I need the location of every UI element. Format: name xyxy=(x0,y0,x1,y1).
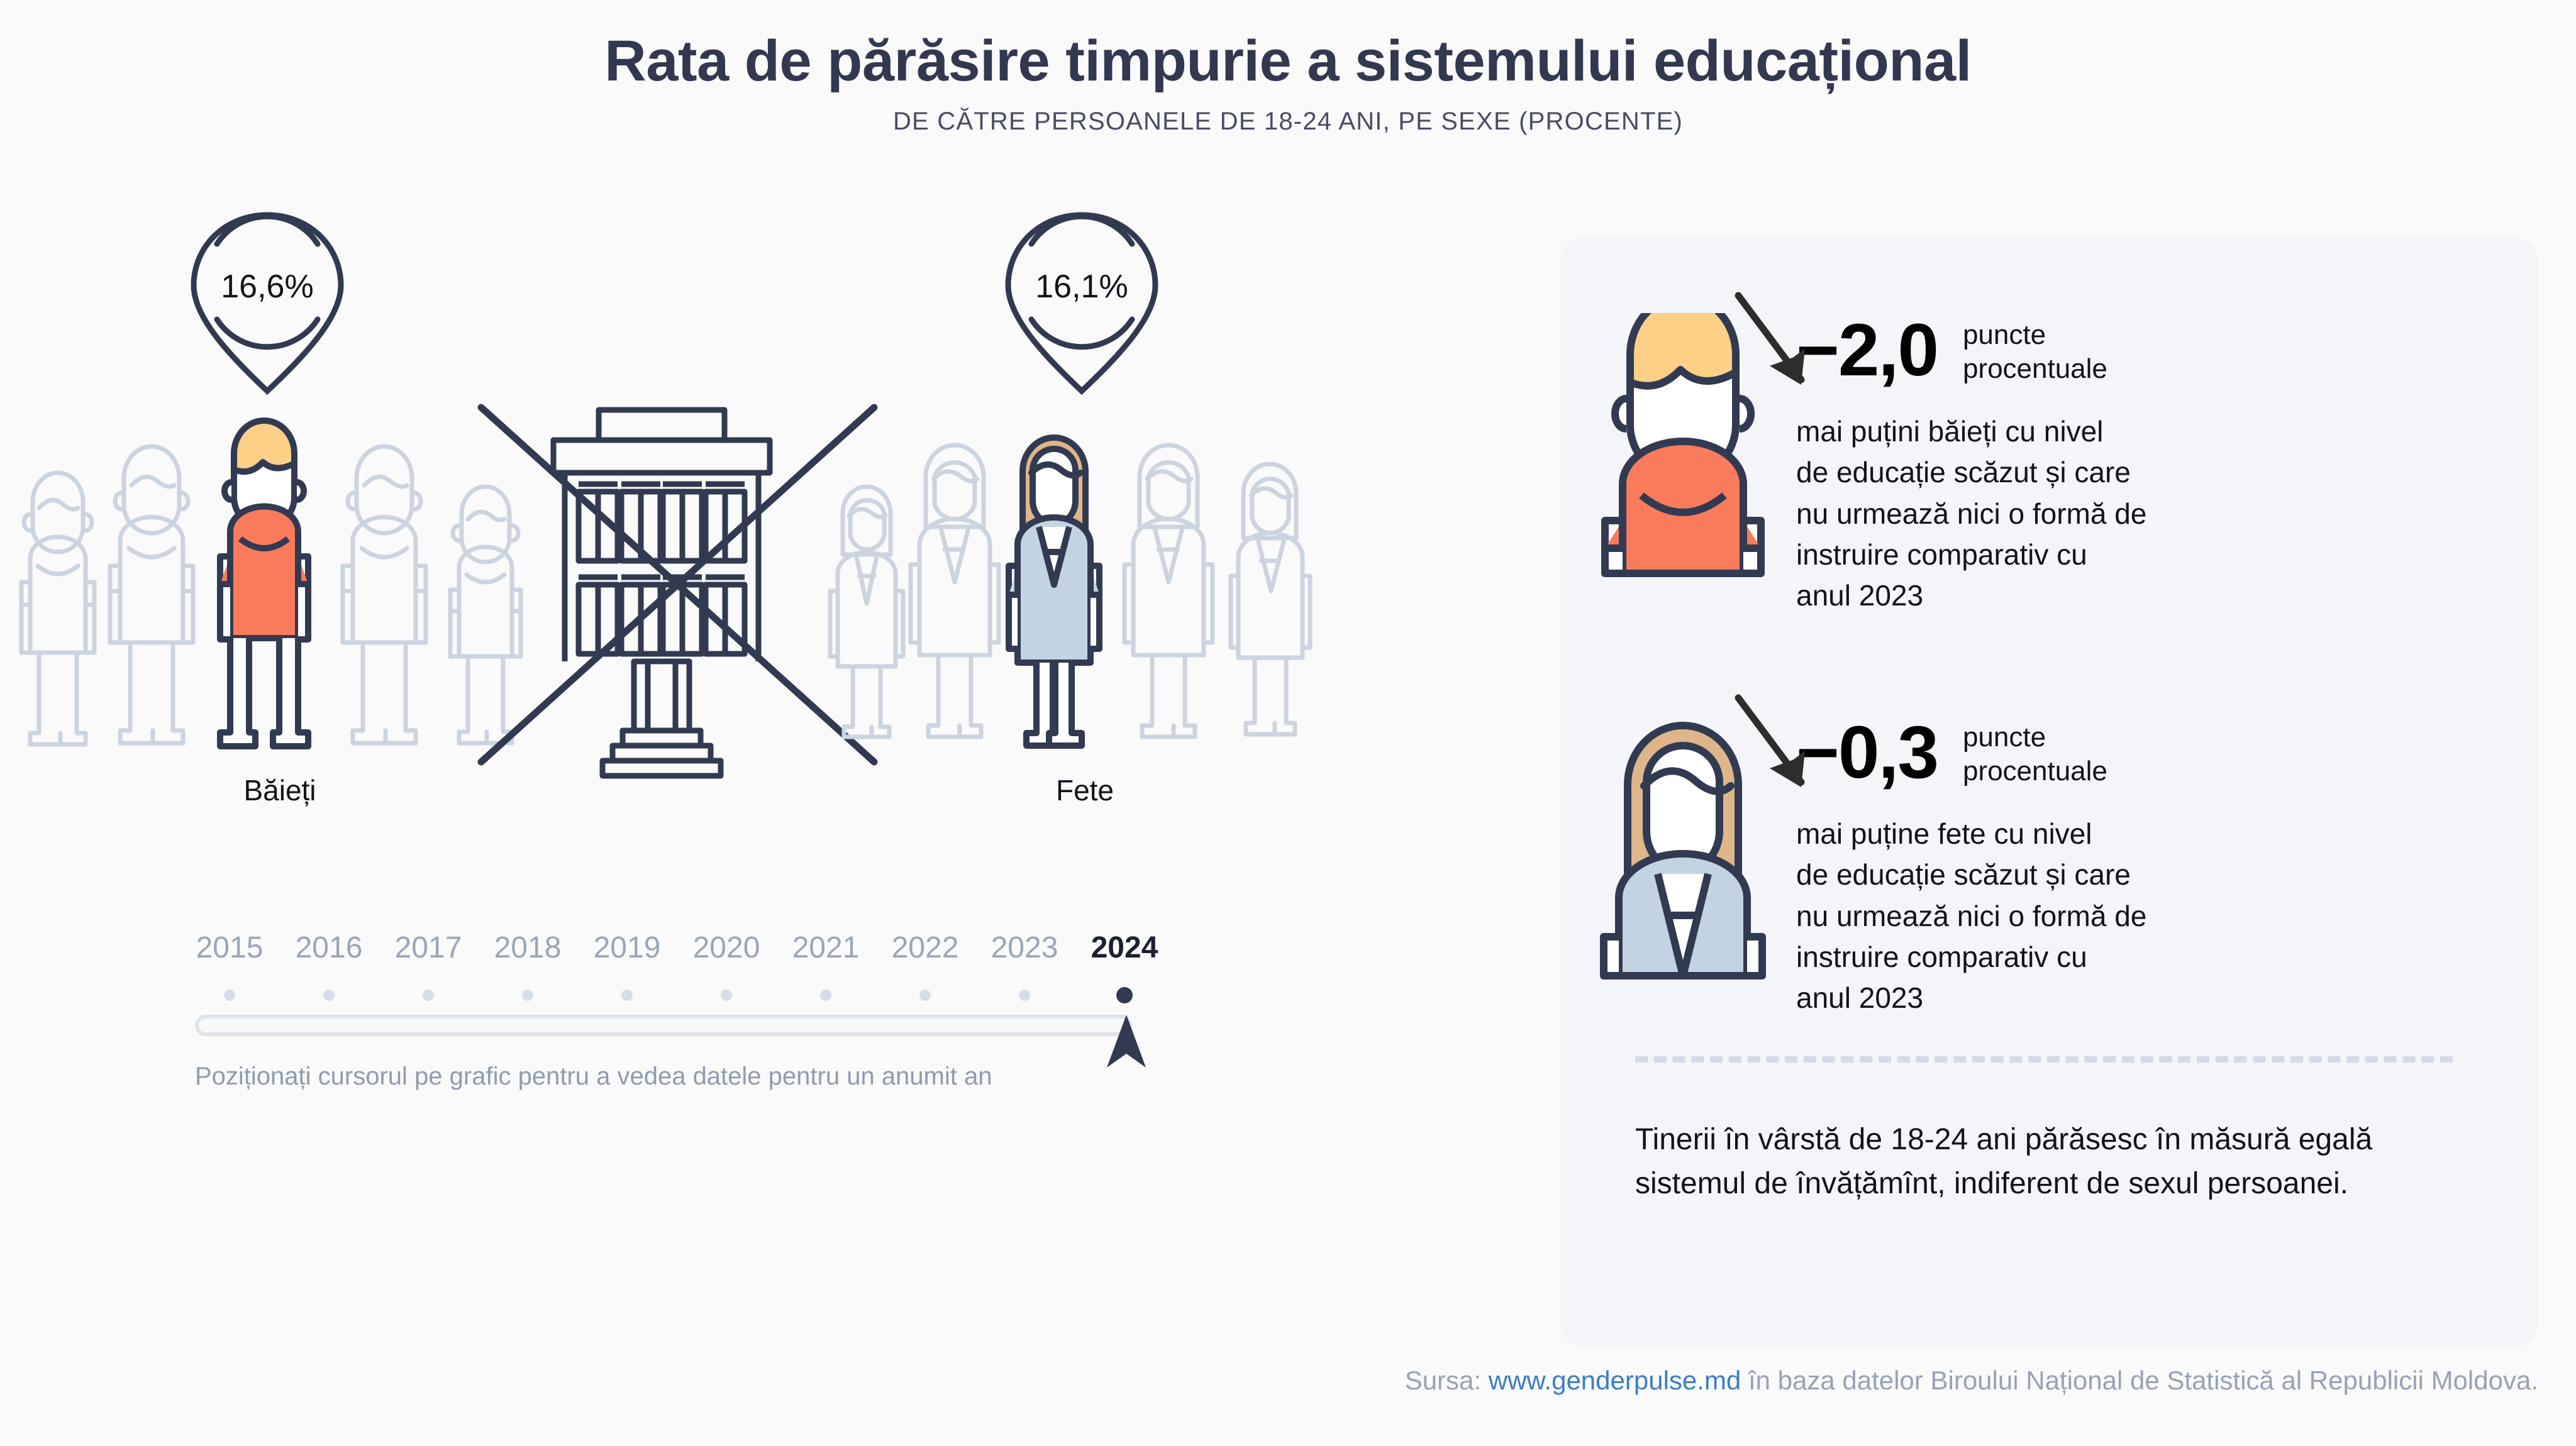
stat-description-boys: mai puțini băieți cu nivel de educație s… xyxy=(1796,411,2146,617)
pin-value-boys: 16,6% xyxy=(182,268,352,306)
year-slider[interactable]: 2015 2016 2017 2018 2019 2020 2021 2022 … xyxy=(195,930,1176,1091)
year-label-2023[interactable]: 2023 xyxy=(991,930,1058,965)
year-ticks xyxy=(195,983,1151,1008)
boy-figure-faded xyxy=(343,446,426,743)
panel-divider xyxy=(1635,1056,2453,1062)
stat-unit-girls: puncte procentuale xyxy=(1963,720,2107,788)
boy-figure-faded xyxy=(21,473,94,744)
year-label-2024[interactable]: 2024 xyxy=(1091,930,1158,965)
year-tick-2024[interactable] xyxy=(1116,987,1133,1003)
stat-unit-line1: puncte xyxy=(1963,318,2107,352)
source-suffix: în baza datelor Biroului Național de Sta… xyxy=(1741,1366,2538,1395)
year-tick-2020[interactable] xyxy=(721,990,732,1001)
source-link[interactable]: www.genderpulse.md xyxy=(1489,1366,1741,1395)
stat-body-boys: −2,0 puncte procentuale mai puțini băieț… xyxy=(1784,313,2146,617)
year-tick-2015[interactable] xyxy=(224,990,235,1001)
stat-unit-line2: procentuale xyxy=(1963,754,2107,788)
summary-panel: −2,0 puncte procentuale mai puțini băieț… xyxy=(1560,238,2538,1348)
year-label-2016[interactable]: 2016 xyxy=(296,930,363,965)
year-tick-2016[interactable] xyxy=(323,990,335,1001)
pin-value-girls: 16,1% xyxy=(997,268,1167,306)
slider-track[interactable] xyxy=(195,1015,1132,1036)
down-right-arrow-icon xyxy=(1727,688,1840,814)
pin-marker-girls: 16,1% xyxy=(997,207,1167,396)
cursor-pointer-icon[interactable] xyxy=(1104,1012,1148,1073)
source-prefix: Sursa: xyxy=(1405,1366,1489,1395)
girl-figure-faded xyxy=(911,445,999,737)
girl-figure-highlighted xyxy=(1009,438,1099,746)
year-tick-2022[interactable] xyxy=(919,990,931,1001)
slider-track-inner xyxy=(199,1018,1128,1032)
source-footer: Sursa: www.genderpulse.md în baza datelo… xyxy=(0,1366,2538,1396)
year-tick-2023[interactable] xyxy=(1019,990,1030,1001)
girl-figure-faded xyxy=(1124,445,1213,737)
girl-figure-faded xyxy=(830,487,903,737)
infographic-page: Rata de părăsire timpurie a sistemului e… xyxy=(0,0,2576,1446)
year-label-2021[interactable]: 2021 xyxy=(792,930,860,965)
year-label-2020[interactable]: 2020 xyxy=(693,930,760,965)
page-subtitle: DE CĂTRE PERSOANELE DE 18-24 ANI, PE SEX… xyxy=(0,108,2576,136)
boy-figure-faded xyxy=(450,487,521,743)
stat-body-girls: −0,3 puncte procentuale mai puține fete … xyxy=(1784,715,2146,1019)
year-tick-2017[interactable] xyxy=(423,990,434,1001)
group-label-boys: Băieți xyxy=(154,773,406,807)
year-label-2022[interactable]: 2022 xyxy=(892,930,959,965)
year-labels: 2015 2016 2017 2018 2019 2020 2021 2022 … xyxy=(195,930,1151,974)
slider-hint: Poziționați cursorul pe grafic pentru a … xyxy=(195,1062,1176,1091)
panel-conclusion-note: Tinerii în vârstă de 18-24 ani părăsesc … xyxy=(1635,1118,2478,1205)
girl-figure-faded xyxy=(1231,464,1310,734)
stat-block-boys: −2,0 puncte procentuale mai puțini băieț… xyxy=(1589,313,2146,617)
page-title: Rata de părăsire timpurie a sistemului e… xyxy=(0,30,2576,92)
year-tick-2021[interactable] xyxy=(820,990,831,1001)
stat-description-girls: mai puține fete cu nivel de educație scă… xyxy=(1796,814,2146,1019)
year-label-2019[interactable]: 2019 xyxy=(594,930,661,965)
down-right-arrow-icon xyxy=(1727,285,1840,411)
crowd-and-school-illustration xyxy=(0,396,1446,786)
illustration-region: 16,6% 16,1% xyxy=(0,189,1509,880)
stat-block-girls: −0,3 puncte procentuale mai puține fete … xyxy=(1589,715,2146,1019)
group-label-girls: Fete xyxy=(959,773,1211,807)
stat-head-boys: −2,0 puncte procentuale xyxy=(1796,313,2146,387)
stat-unit-line2: procentuale xyxy=(1963,352,2107,386)
year-label-2017[interactable]: 2017 xyxy=(395,930,462,965)
year-label-2018[interactable]: 2018 xyxy=(494,930,562,965)
stat-head-girls: −0,3 puncte procentuale xyxy=(1796,715,2146,790)
stat-unit-line1: puncte xyxy=(1963,720,2107,754)
boy-figure-faded xyxy=(110,446,193,743)
pin-marker-boys: 16,6% xyxy=(182,207,352,396)
school-building-icon xyxy=(553,410,770,776)
year-label-2015[interactable]: 2015 xyxy=(196,930,264,965)
year-tick-2018[interactable] xyxy=(522,990,533,1001)
page-header: Rata de părăsire timpurie a sistemului e… xyxy=(0,30,2576,136)
stat-unit-boys: puncte procentuale xyxy=(1963,318,2107,385)
year-tick-2019[interactable] xyxy=(621,990,633,1001)
